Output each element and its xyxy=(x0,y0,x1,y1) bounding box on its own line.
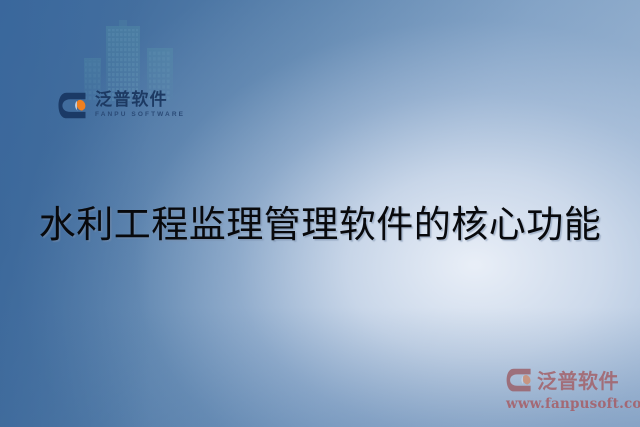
slide-title: 水利工程监理管理软件的核心功能 xyxy=(0,201,640,248)
brand-wordmark: 泛普软件 FANPU SOFTWARE xyxy=(95,92,185,119)
fanpu-hexagon-swoosh-icon xyxy=(506,368,533,392)
presentation-slide: 泛普软件 FANPU SOFTWARE 水利工程监理管理软件的核心功能 泛普软件… xyxy=(0,0,640,427)
site-watermark-name-cn: 泛普软件 xyxy=(537,365,619,394)
fanpu-hexagon-swoosh-icon xyxy=(58,92,88,119)
brand-name-en: FANPU SOFTWARE xyxy=(95,112,185,119)
site-watermark: 泛普软件 www.fanpusoft.com xyxy=(506,365,638,412)
brand-name-cn: 泛普软件 xyxy=(95,92,185,109)
site-watermark-logo-row: 泛普软件 xyxy=(506,365,638,394)
brand-logo: 泛普软件 FANPU SOFTWARE xyxy=(58,92,185,119)
site-watermark-url: www.fanpusoft.com xyxy=(506,396,638,412)
